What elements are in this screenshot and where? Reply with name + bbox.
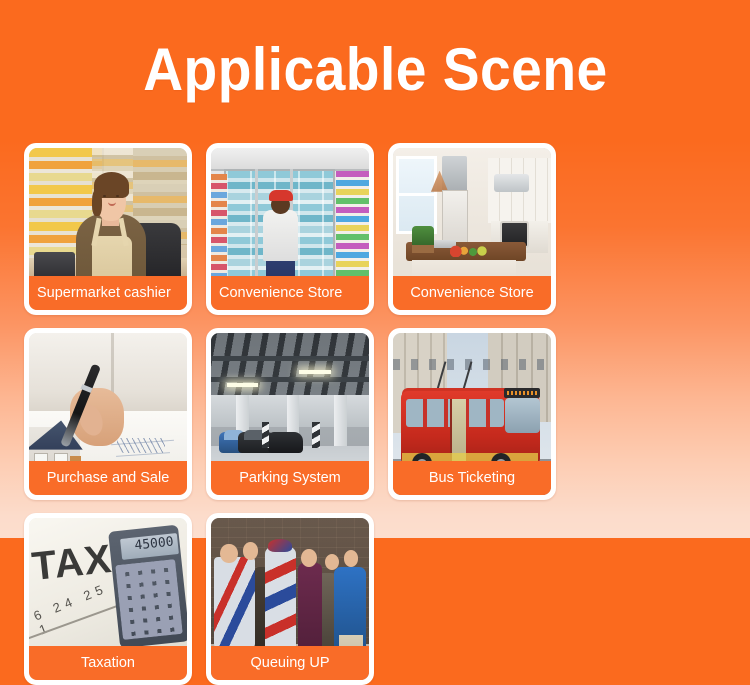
card-caption: Purchase and Sale bbox=[29, 461, 187, 495]
scene-card-grid: Supermarket cashier bbox=[24, 143, 726, 685]
card-caption: Parking System bbox=[211, 461, 369, 495]
page-title-area: Applicable Scene bbox=[0, 0, 750, 140]
scene-card-parking-system[interactable]: Parking System bbox=[206, 328, 374, 500]
scene-card-kitchen[interactable]: Convenience Store bbox=[388, 143, 556, 315]
scene-card-bus-ticketing[interactable]: Bus Ticketing bbox=[388, 328, 556, 500]
card-photo-frame: Bus Ticketing bbox=[393, 333, 551, 495]
card-photo-frame: Convenience Store bbox=[393, 148, 551, 310]
card-caption: Bus Ticketing bbox=[393, 461, 551, 495]
scene-card-supermarket-cashier[interactable]: Supermarket cashier bbox=[24, 143, 192, 315]
card-photo-frame: Supermarket cashier bbox=[29, 148, 187, 310]
card-photo-frame: Purchase and Sale bbox=[29, 333, 187, 495]
card-caption: Convenience Store bbox=[211, 276, 369, 310]
card-photo-frame: Convenience Store bbox=[211, 148, 369, 310]
card-photo-frame: Parking System bbox=[211, 333, 369, 495]
card-caption: Taxation bbox=[29, 646, 187, 680]
scene-card-taxation[interactable]: TAX 6 24 25 1 45000 Taxation bbox=[24, 513, 192, 685]
card-photo-frame: Queuing UP bbox=[211, 518, 369, 680]
scene-card-queuing-up[interactable]: Queuing UP bbox=[206, 513, 374, 685]
card-caption: Convenience Store bbox=[393, 276, 551, 310]
card-photo-frame: TAX 6 24 25 1 45000 Taxation bbox=[29, 518, 187, 680]
applicable-scene-banner: Applicable Scene bbox=[0, 0, 750, 538]
card-caption: Queuing UP bbox=[211, 646, 369, 680]
page-title: Applicable Scene bbox=[143, 40, 607, 100]
card-caption: Supermarket cashier bbox=[29, 276, 187, 310]
scene-card-convenience-store[interactable]: Convenience Store bbox=[206, 143, 374, 315]
scene-card-purchase-and-sale[interactable]: Purchase and Sale bbox=[24, 328, 192, 500]
